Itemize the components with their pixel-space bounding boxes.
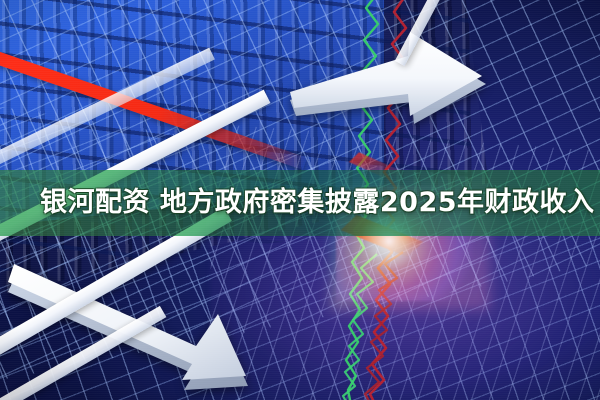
arrow-right-icon <box>290 18 505 138</box>
headline-text: 银河配资 地方政府密集披露2025年财政收入 <box>40 187 580 219</box>
banner-image: 银河配资 地方政府密集披露2025年财政收入 <box>0 0 600 400</box>
